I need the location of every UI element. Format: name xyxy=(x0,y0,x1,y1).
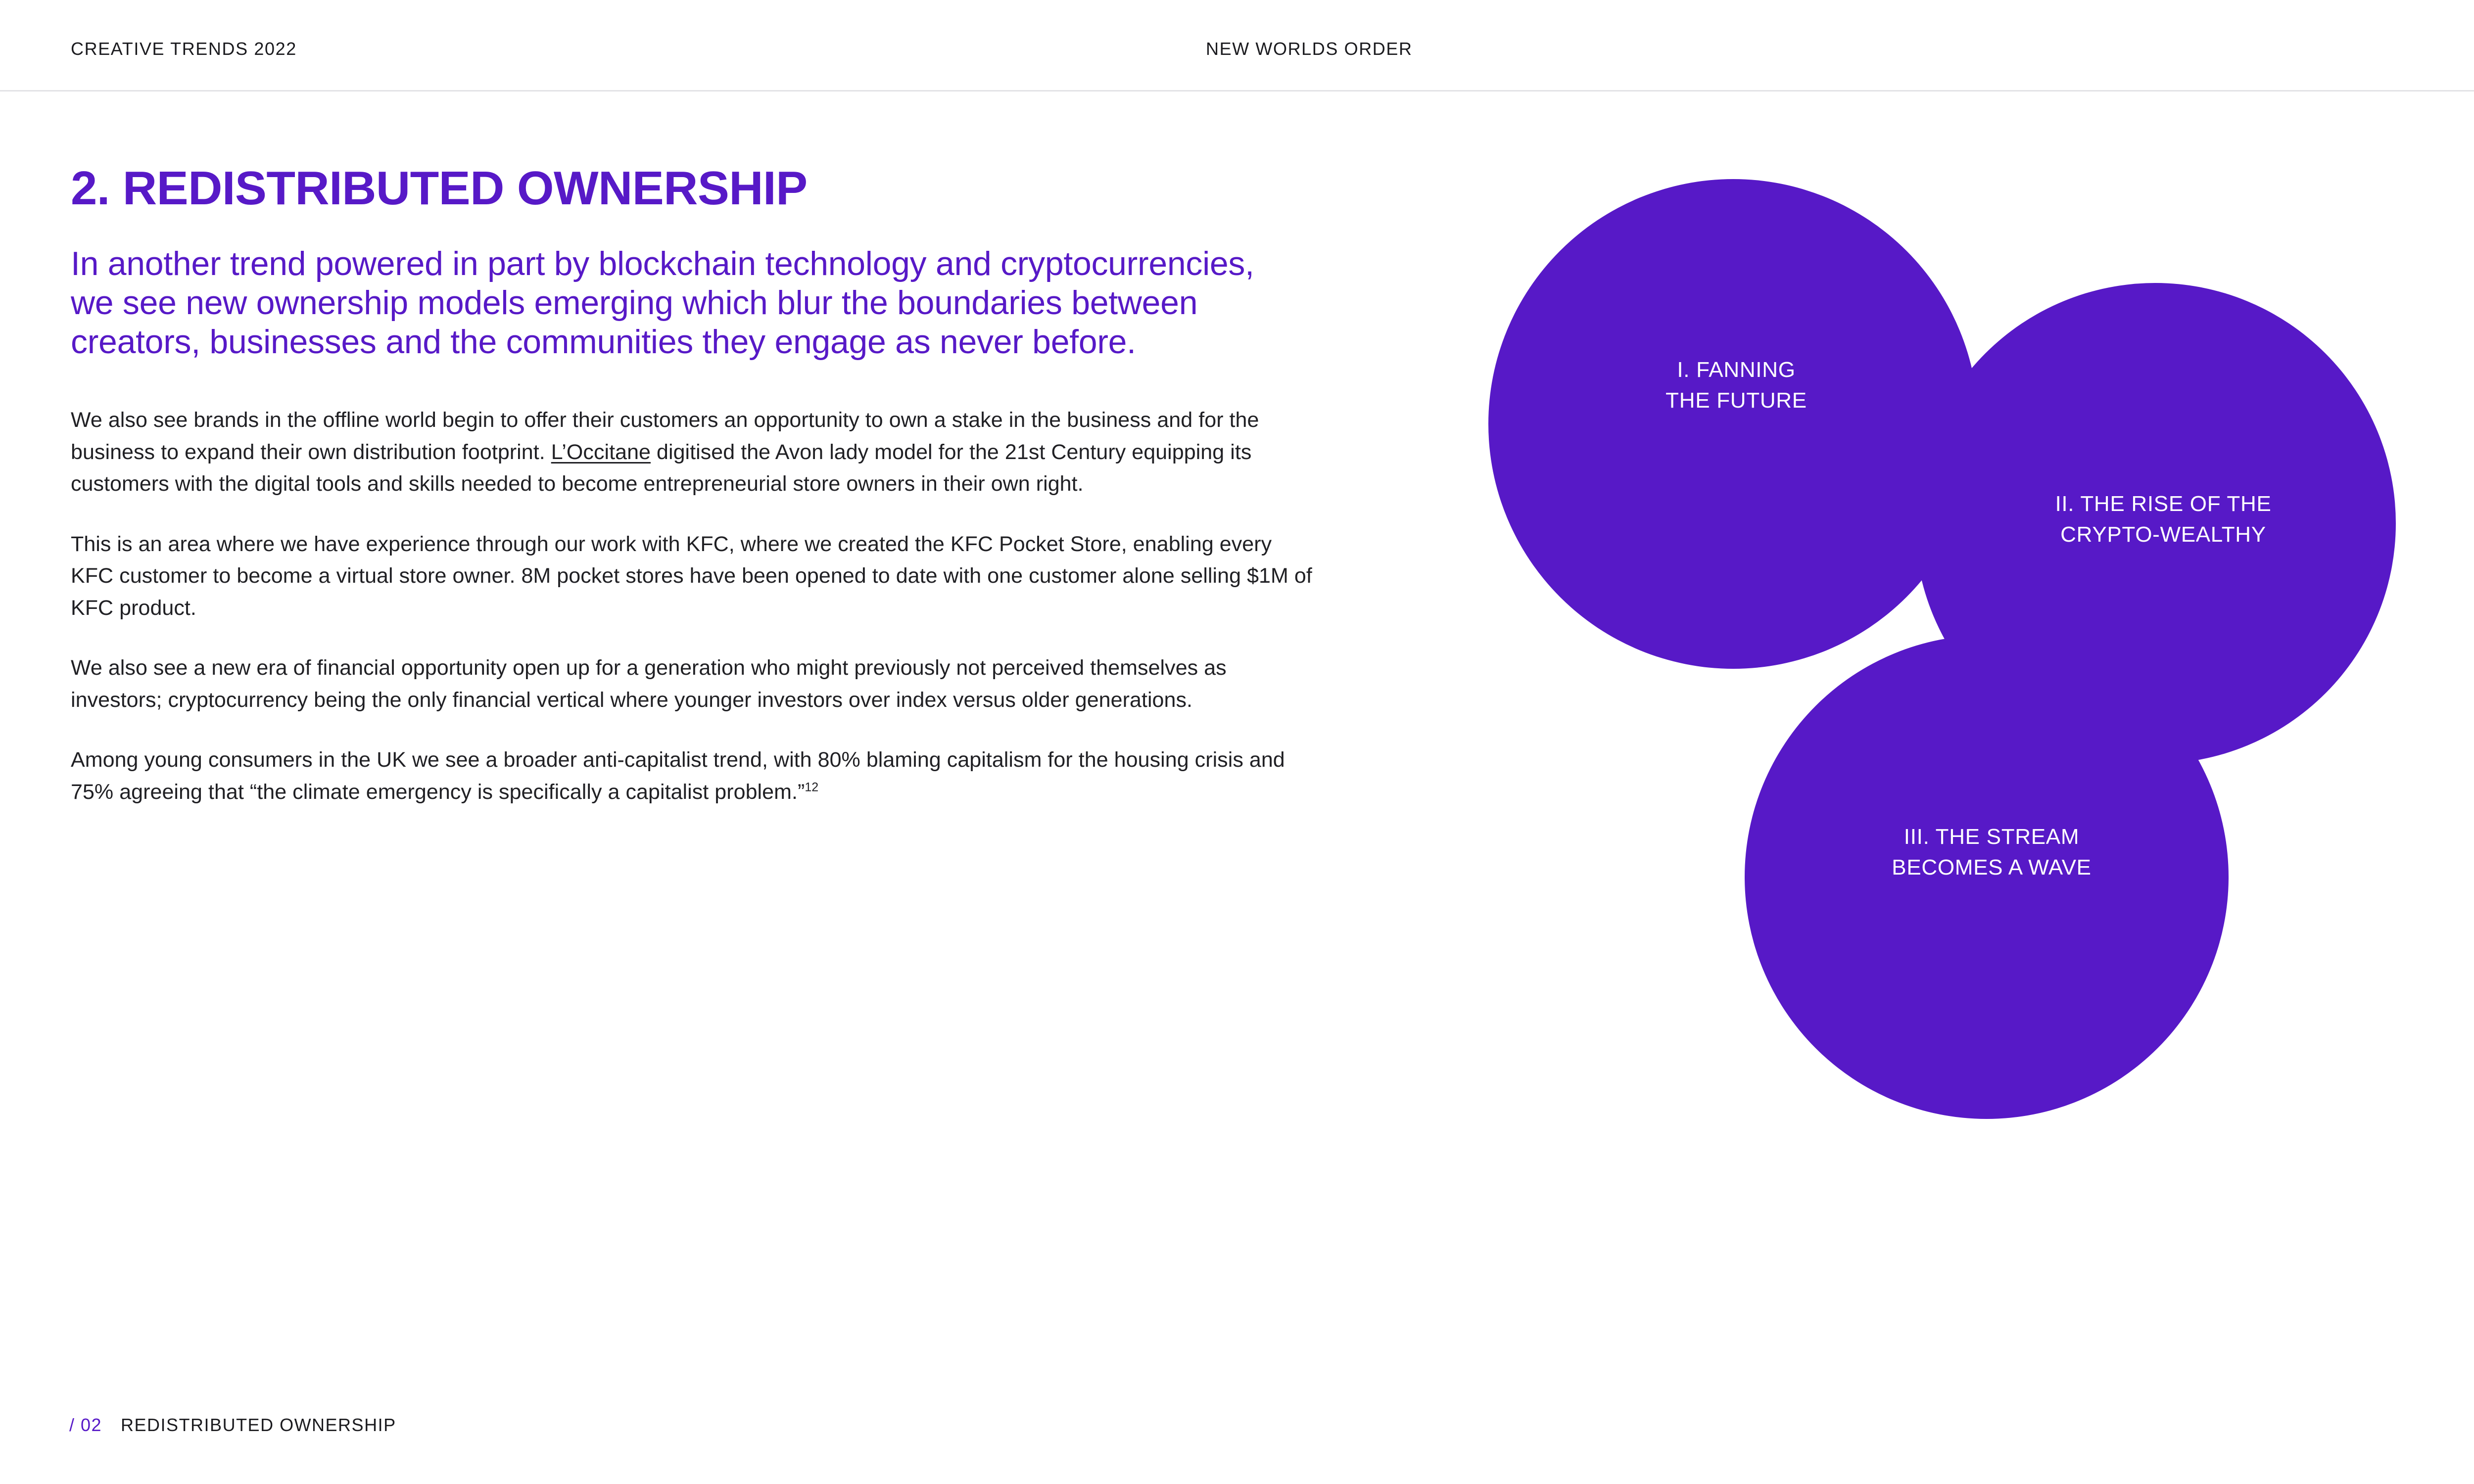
circle-stream-becomes-a-wave[interactable]: III. THE STREAM BECOMES A WAVE xyxy=(1745,635,2229,1119)
header-publication-title: CREATIVE TRENDS 2022 xyxy=(71,39,297,59)
footer-section-label: REDISTRIBUTED OWNERSHIP xyxy=(121,1415,396,1436)
lead-paragraph: In another trend powered in part by bloc… xyxy=(71,244,1298,362)
body-paragraph-4: Among young consumers in the UK we see a… xyxy=(71,744,1318,808)
loccitane-link[interactable]: L’Occitane xyxy=(551,440,651,464)
body-paragraph-2: This is an area where we have experience… xyxy=(71,528,1318,624)
page-footer: / 02 REDISTRIBUTED OWNERSHIP xyxy=(69,1415,396,1436)
page-title: 2. REDISTRIBUTED OWNERSHIP xyxy=(71,163,1318,214)
body-paragraph-1: We also see brands in the offline world … xyxy=(71,404,1318,500)
circle-3-label: III. THE STREAM BECOMES A WAVE xyxy=(1892,822,2091,883)
body-paragraph-3: We also see a new era of financial oppor… xyxy=(71,652,1318,716)
paragraph-text: Among young consumers in the UK we see a… xyxy=(71,748,1285,804)
footnote-marker: 12 xyxy=(805,781,818,794)
content-column: 2. REDISTRIBUTED OWNERSHIP In another tr… xyxy=(71,163,1318,808)
circle-fanning-the-future[interactable]: I. FANNING THE FUTURE xyxy=(1488,179,1978,669)
footer-section-number: / 02 xyxy=(69,1415,102,1436)
circle-1-label: I. FANNING THE FUTURE xyxy=(1665,355,1807,417)
circle-2-label: II. THE RISE OF THE CRYPTO-WEALTHY xyxy=(2055,489,2271,551)
page-header: CREATIVE TRENDS 2022 NEW WORLDS ORDER 18 xyxy=(0,0,2474,92)
slide-page: CREATIVE TRENDS 2022 NEW WORLDS ORDER 18… xyxy=(0,0,2474,1484)
header-chapter-title: NEW WORLDS ORDER xyxy=(1206,39,1413,59)
three-circle-diagram: I. FANNING THE FUTURE II. THE RISE OF TH… xyxy=(1460,139,2474,1177)
